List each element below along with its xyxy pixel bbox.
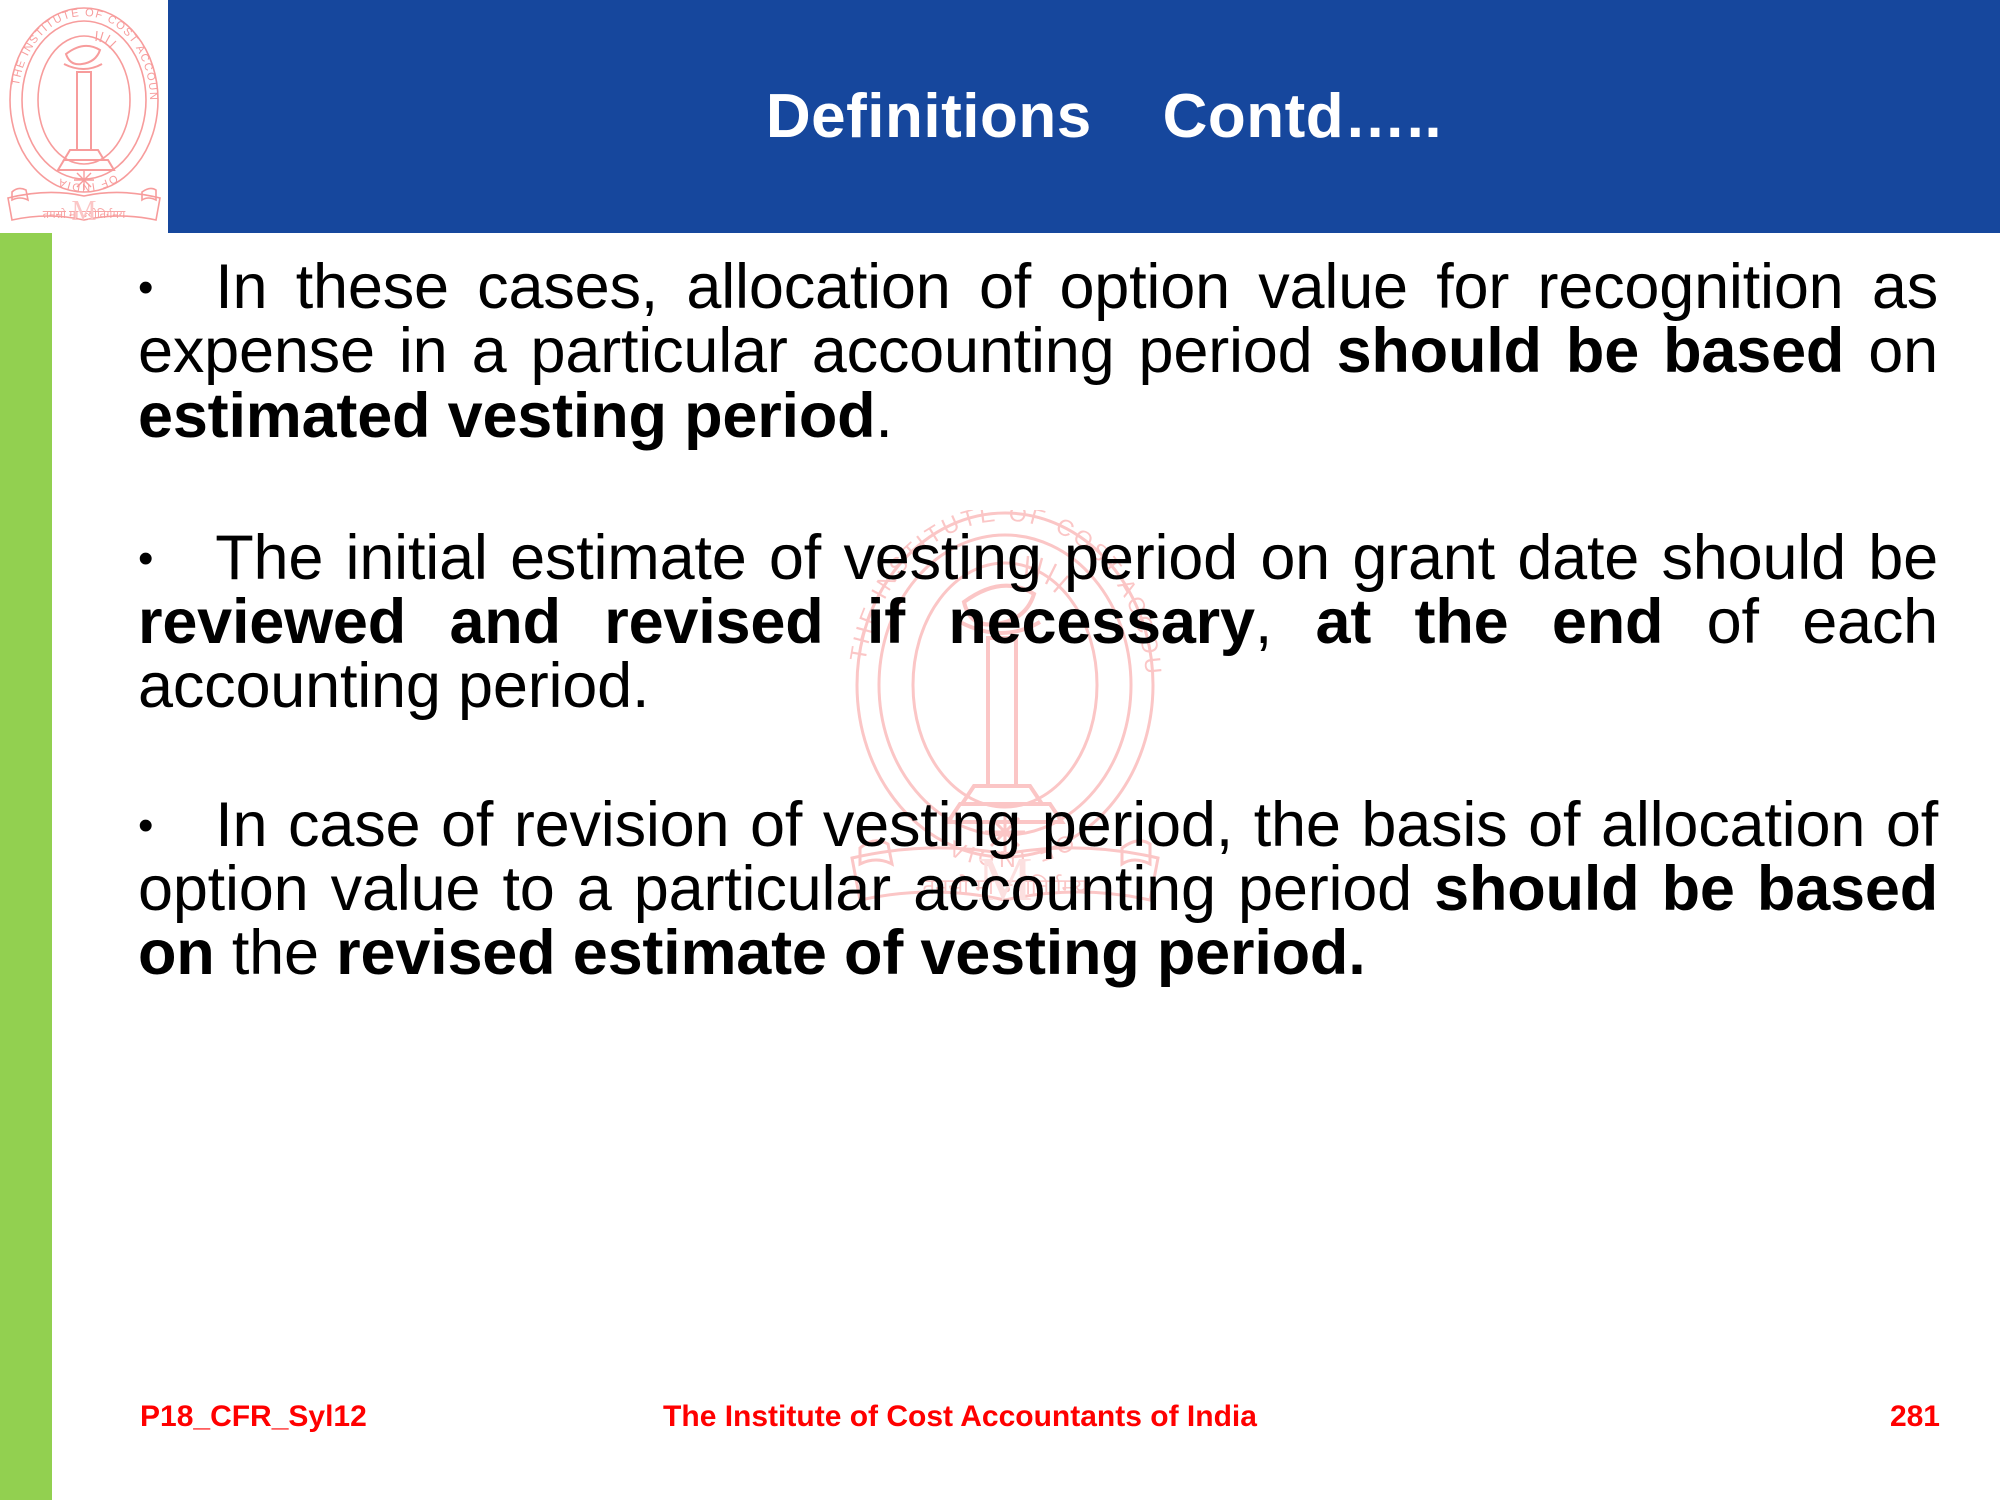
institute-logo-icon: THE INSTITUTE OF COST ACCOUNTANTS OF IND…	[2, 2, 166, 230]
svg-text:M: M	[72, 196, 97, 227]
page-title: Definitions Contd…..	[168, 0, 2000, 233]
header-band: Definitions Contd…..	[168, 0, 2000, 233]
p2-run-1: reviewed and revised if necessary	[138, 587, 1255, 657]
slide-body: •In these cases, allocation of option va…	[138, 255, 1938, 1365]
p1-run-3: estimated vesting period	[138, 381, 875, 451]
p2-run-2: ,	[1255, 587, 1316, 657]
bullet-marker: •	[138, 534, 153, 583]
bullet-marker: •	[138, 263, 153, 312]
svg-text:THE INSTITUTE OF COST ACCOUNTA: THE INSTITUTE OF COST ACCOUNTANTS	[2, 2, 159, 102]
bullet-paragraph-3: •In case of revision of vesting period, …	[138, 793, 1938, 986]
paragraph-spacer-1	[138, 448, 1938, 526]
p1-run-1: should be based	[1337, 316, 1845, 386]
p3-run-3: revised estimate of vesting period.	[336, 918, 1365, 988]
paragraph-spacer-2	[138, 719, 1938, 793]
p1-run-4: .	[875, 381, 892, 451]
footer-page-number: 281	[1890, 1400, 1940, 1434]
p3-run-2: the	[215, 918, 337, 988]
p2-run-0: The initial estimate of vesting period o…	[215, 523, 1938, 593]
p2-run-3: at the end	[1316, 587, 1664, 657]
slide-footer: P18_CFR_Syl12 The Institute of Cost Acco…	[0, 1400, 2000, 1460]
bullet-paragraph-2: •The initial estimate of vesting period …	[138, 526, 1938, 719]
slide-canvas: Definitions Contd…..	[0, 0, 2000, 1500]
bullet-marker: •	[138, 801, 153, 850]
left-accent-bar	[0, 233, 52, 1500]
p1-run-2: on	[1844, 316, 1938, 386]
bullet-paragraph-1: •In these cases, allocation of option va…	[138, 255, 1938, 448]
footer-institute-name: The Institute of Cost Accountants of Ind…	[0, 1400, 1920, 1434]
